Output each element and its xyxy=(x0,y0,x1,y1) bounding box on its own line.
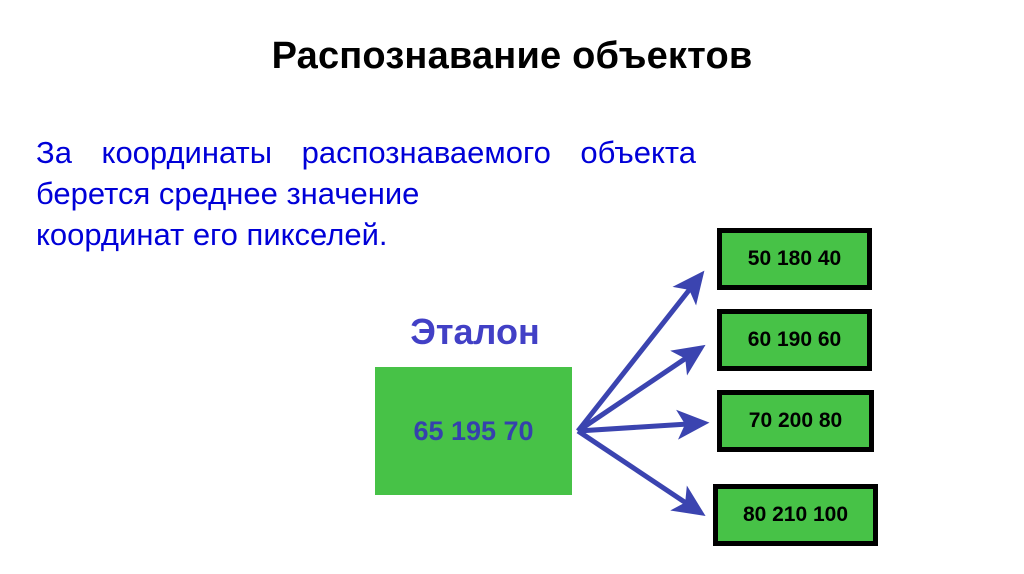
candidate-box: 70 200 80 xyxy=(717,390,874,452)
body-paragraph-line-1: За координаты распознаваемого объекта бе… xyxy=(36,132,696,214)
reference-box: 65 195 70 xyxy=(375,367,572,495)
candidate-box: 60 190 60 xyxy=(717,309,872,371)
candidate-value: 50 180 40 xyxy=(748,247,841,271)
reference-to-candidate-arrow xyxy=(578,275,701,431)
body-paragraph-line-2: координат его пикселей. xyxy=(36,214,696,255)
reference-value: 65 195 70 xyxy=(413,416,533,447)
body-paragraph: За координаты распознаваемого объекта бе… xyxy=(36,132,696,256)
candidate-value: 80 210 100 xyxy=(743,503,848,527)
reference-to-candidate-arrow xyxy=(578,431,701,513)
candidate-value: 70 200 80 xyxy=(749,409,842,433)
reference-to-candidate-arrow xyxy=(578,423,704,431)
slide-canvas: Распознавание объектов За координаты рас… xyxy=(0,0,1024,574)
candidate-box: 80 210 100 xyxy=(713,484,878,546)
candidate-value: 60 190 60 xyxy=(748,328,841,352)
page-title: Распознавание объектов xyxy=(0,36,1024,78)
candidate-box: 50 180 40 xyxy=(717,228,872,290)
reference-to-candidate-arrow xyxy=(578,348,701,431)
reference-label: Эталон xyxy=(375,311,575,353)
